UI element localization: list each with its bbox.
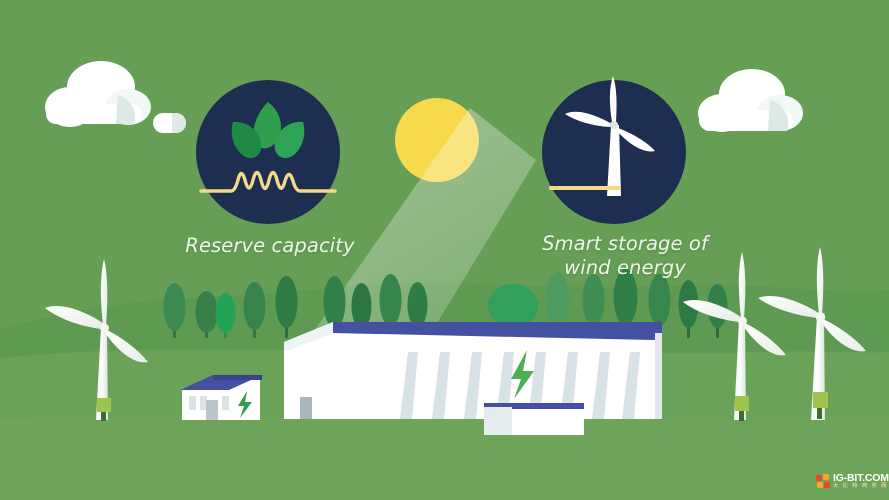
reserve-capacity-icon-badge[interactable] (196, 80, 340, 224)
ground-foreground (0, 414, 889, 500)
ig-bit-watermark: IG-BIT.COM 大 比 特 商 务 网 (816, 470, 884, 492)
watermark-logo-icon (816, 474, 831, 489)
watermark-title: IG-BIT.COM (833, 473, 889, 484)
cloud-left-small-puff (153, 113, 186, 133)
substation-box (484, 403, 584, 435)
illustration-canvas: Reserve capacity Smart storage of wind e… (0, 0, 889, 500)
charge-bar-icon (549, 186, 621, 190)
caption-smart-storage: Smart storage of wind energy (500, 232, 750, 280)
scene-svg (0, 0, 889, 500)
battery-storage-warehouse (284, 322, 662, 419)
watermark-text: IG-BIT.COM 大 比 特 商 务 网 (833, 473, 889, 490)
caption-reserve-capacity: Reserve capacity (160, 234, 380, 258)
watermark-subtitle: 大 比 特 商 务 网 (833, 484, 889, 489)
